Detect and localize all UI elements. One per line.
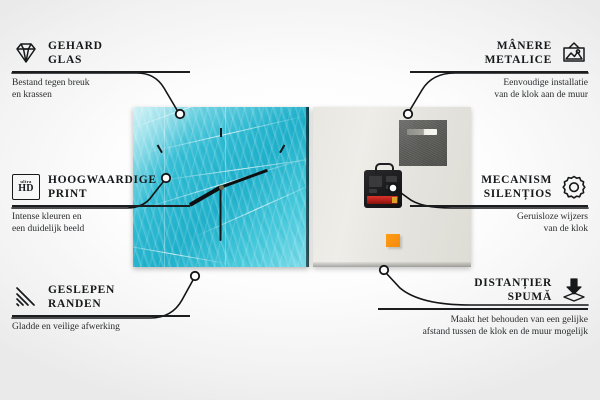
feature-title: GESLEPEN RANDEN	[48, 283, 115, 311]
feature-divider	[12, 315, 190, 317]
clock-battery	[367, 196, 398, 204]
clock-tick	[279, 145, 285, 154]
clock-tick	[220, 128, 222, 137]
feature-subtitle: Intense kleuren en een duidelijk beeld	[12, 211, 190, 235]
feature-subtitle: Maakt het behouden van een gelijke afsta…	[378, 314, 588, 338]
battery-positive-tip	[392, 197, 397, 203]
mechanism-hanger-loop	[375, 163, 394, 174]
feature-subtitle: Bestand tegen breuk en krassen	[12, 77, 190, 101]
feature-distantier-spuma[interactable]: DISTANȚIER SPUMĂ Maakt het behouden van …	[378, 275, 588, 338]
clock-mechanism	[364, 170, 402, 208]
feature-subtitle: Geruisloze wijzers van de klok	[410, 211, 588, 235]
feature-subtitle: Gladde en veilige afwerking	[12, 321, 190, 333]
spacer-arrow-icon	[560, 277, 588, 303]
feature-title: MÂNERE METALICE	[485, 39, 552, 67]
diamond-icon	[12, 41, 40, 65]
feature-divider	[12, 71, 190, 73]
feature-title: GEHARD GLAS	[48, 39, 103, 67]
picture-frame-icon	[560, 41, 588, 65]
feature-divider	[378, 308, 588, 310]
connector-node-geslepen-randen	[191, 272, 199, 280]
feature-title: DISTANȚIER SPUMĂ	[474, 276, 552, 304]
ultra-hd-icon-bottom-label: HD	[18, 184, 34, 194]
feature-manere-metalice[interactable]: MÂNERE METALICE Eenvoudige installatie v…	[410, 38, 588, 101]
feature-hoogwaardige-print[interactable]: ultra HD HOOGWAARDIGE PRINT Intense kleu…	[12, 172, 190, 235]
metal-hanger-plate	[399, 120, 447, 166]
feature-mecanism-silentios[interactable]: MECANISM SILENȚIOS Geruisloze wijzers va…	[410, 172, 588, 235]
clock-center-cap	[219, 185, 224, 190]
feature-title: MECANISM SILENȚIOS	[481, 173, 552, 201]
feature-divider	[410, 205, 588, 207]
feature-title: HOOGWAARDIGE PRINT	[48, 173, 157, 201]
hanger-slot	[407, 129, 437, 135]
feature-geslepen-randen[interactable]: GESLEPEN RANDEN Gladde en veilige afwerk…	[12, 282, 190, 333]
product-feature-infographic: GEHARD GLAS Bestand tegen breuk en krass…	[0, 0, 600, 400]
bevelled-edge-icon	[12, 285, 40, 309]
foam-spacer	[386, 234, 400, 247]
feature-divider	[410, 71, 588, 73]
feature-gehard-glas[interactable]: GEHARD GLAS Bestand tegen breuk en krass…	[12, 38, 190, 101]
feature-divider	[12, 205, 190, 207]
feature-subtitle: Eenvoudige installatie van de klok aan d…	[410, 77, 588, 101]
ultra-hd-icon: ultra HD	[12, 174, 40, 200]
gear-icon	[560, 174, 588, 200]
clock-minute-hand	[220, 169, 267, 189]
clock-second-hand	[220, 187, 222, 241]
